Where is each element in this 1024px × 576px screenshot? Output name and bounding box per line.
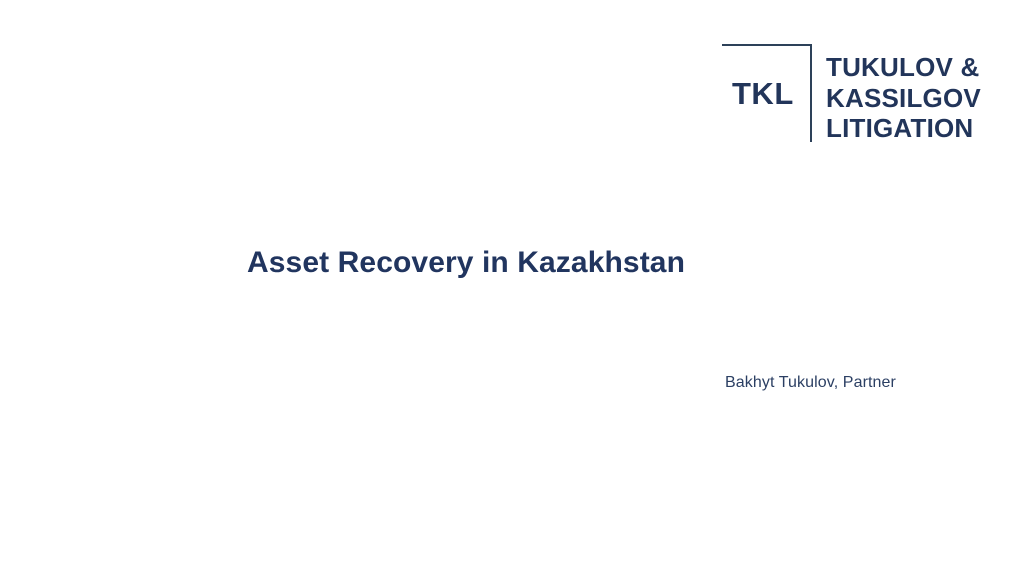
firm-logo: TKL TUKULOV & KASSILGOV LITIGATION [722, 44, 982, 148]
presenter-byline: Bakhyt Tukulov, Partner [725, 373, 896, 394]
logo-wordmark: TUKULOV & KASSILGOV LITIGATION [826, 52, 981, 144]
logo-wordmark-line-3: LITIGATION [826, 113, 981, 144]
logo-wordmark-line-2: KASSILGOV [826, 83, 981, 114]
slide-canvas: TKL TUKULOV & KASSILGOV LITIGATION Asset… [0, 0, 1024, 576]
logo-wordmark-line-1: TUKULOV & [826, 52, 981, 83]
logo-monogram: TKL [732, 78, 804, 109]
slide-title: Asset Recovery in Kazakhstan [247, 245, 685, 281]
